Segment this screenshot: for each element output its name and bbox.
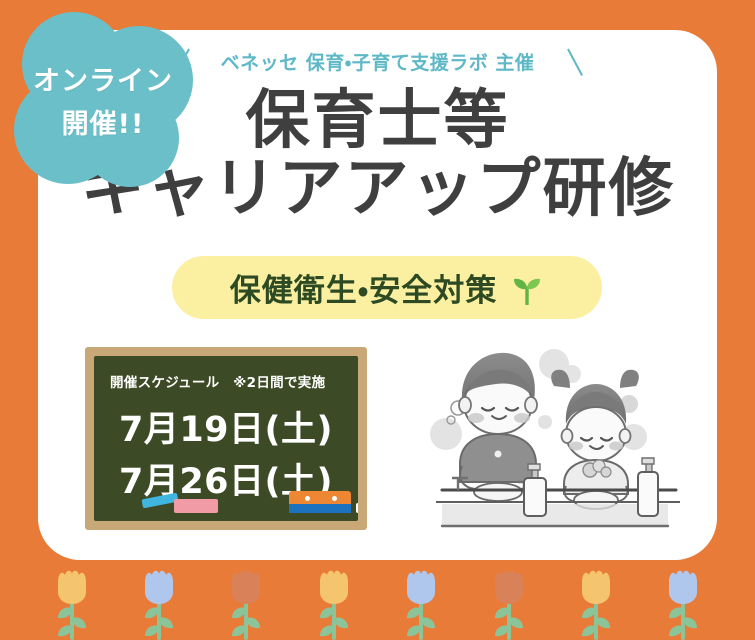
subtitle-text: 保健衛生・安全対策 <box>230 265 498 310</box>
orange-eraser-base-icon <box>289 504 351 513</box>
online-badge: オンライン 開催!! <box>8 12 198 187</box>
badge-line-2: 開催!! <box>62 102 145 141</box>
tulip-2 <box>132 566 186 640</box>
eraser-dot-left-icon <box>305 496 310 501</box>
badge-line-1: オンライン <box>33 59 173 98</box>
blackboard-surface: 開催スケジュール ※2日間で実施 7月19日(土) 7月26日(土) <box>94 356 358 521</box>
blackboard-heading: 開催スケジュール ※2日間で実施 <box>110 371 325 391</box>
tulip-3 <box>219 566 273 640</box>
tulip-6 <box>482 566 536 640</box>
white-chalk-icon <box>356 503 358 513</box>
tulip-4 <box>307 566 361 640</box>
tulip-8 <box>656 566 710 640</box>
blackboard: 開催スケジュール ※2日間で実施 7月19日(土) 7月26日(土) <box>85 347 367 530</box>
tulip-1 <box>45 566 99 640</box>
sprout-icon <box>510 271 544 305</box>
tulip-border <box>0 562 755 640</box>
slash-decoration-right-icon <box>554 49 580 75</box>
schedule-date-1: 7月19日(土) <box>94 401 358 452</box>
subtitle-pill: 保健衛生・安全対策 <box>172 256 602 319</box>
host-text: ベネッセ 保育・子育て支援ラボ 主催 <box>221 48 535 75</box>
eraser-dot-right-icon <box>332 496 337 501</box>
tulip-7 <box>569 566 623 640</box>
promotional-banner: ベネッセ 保育・子育て支援ラボ 主催 保育士等 キャリアアップ研修 保健衛生・安… <box>0 0 755 640</box>
handwashing-illustration <box>424 342 692 536</box>
badge-text-wrap: オンライン 開催!! <box>8 12 198 187</box>
pink-eraser-icon <box>174 499 218 513</box>
tulip-5 <box>394 566 448 640</box>
